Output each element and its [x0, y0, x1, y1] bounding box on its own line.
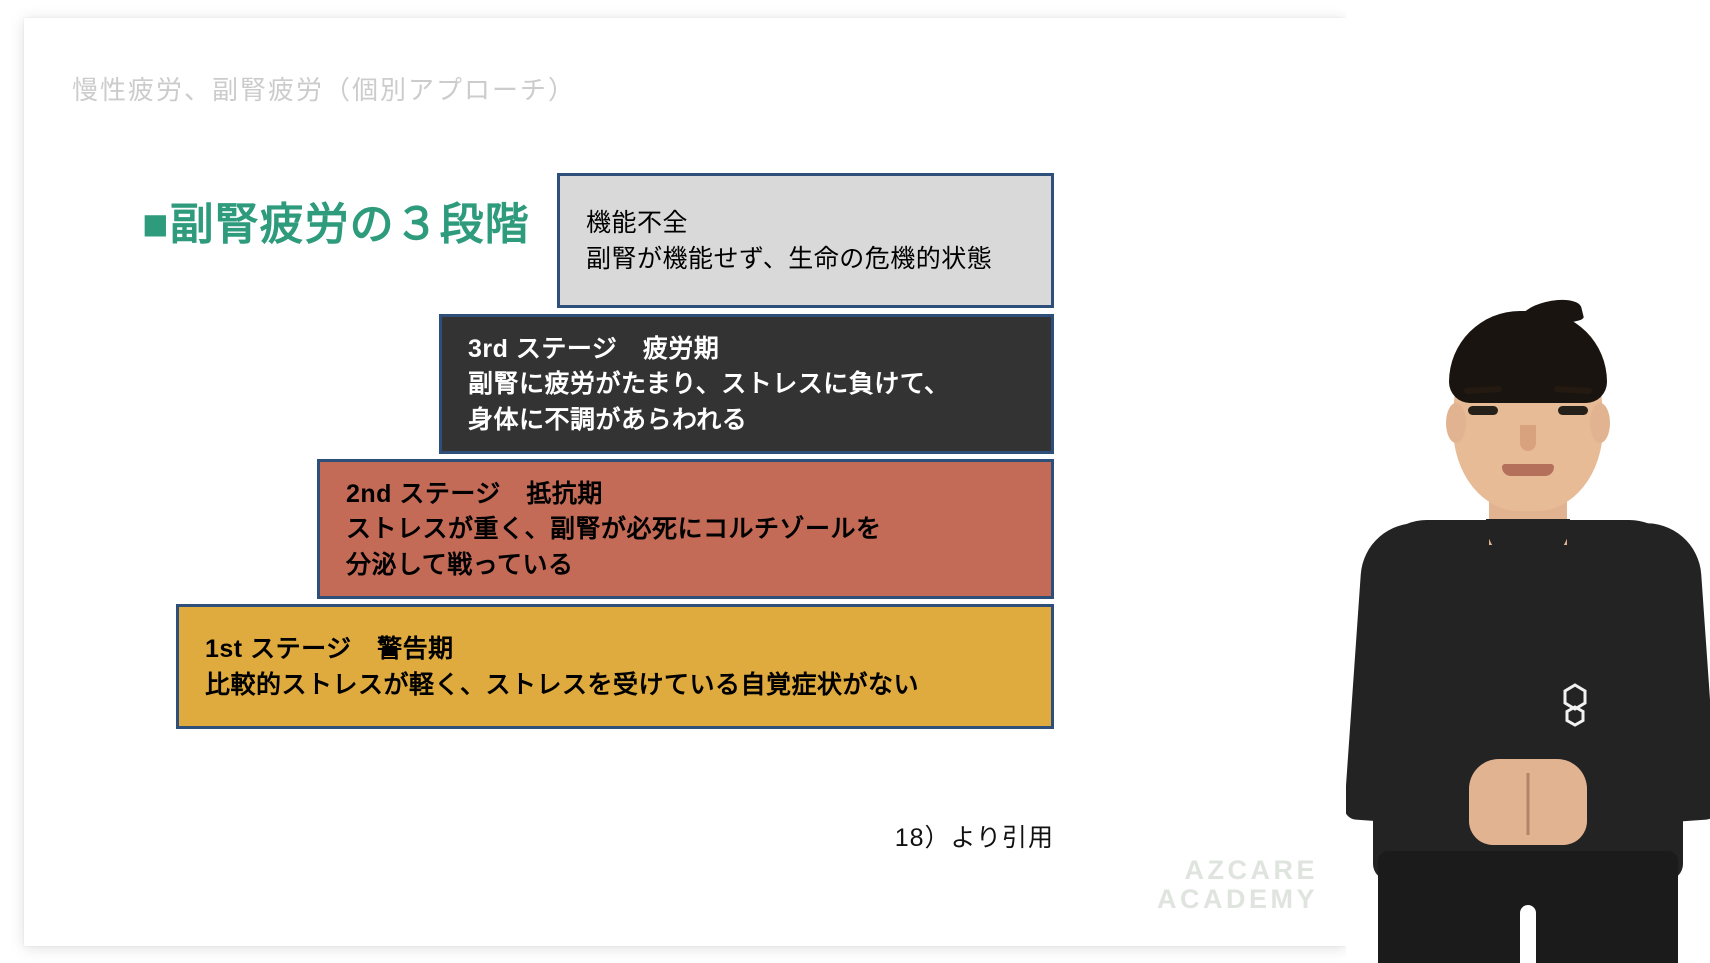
- stage-failure-line-2: 副腎が機能せず、生命の危機的状態: [586, 242, 1025, 278]
- stage-3-line-3: 身体に不調があらわれる: [468, 403, 1025, 439]
- adrenal-fatigue-stage-pyramid: 機能不全 副腎が機能せず、生命の危機的状態 3rd ステージ 疲労期 副腎に疲労…: [24, 18, 1346, 946]
- presenter-mouth: [1502, 464, 1554, 476]
- stage-2-line-2: ストレスが重く、副腎が必死にコルチゾールを: [346, 512, 1025, 548]
- presenter-shirt-hexagon-logo: [1558, 683, 1592, 731]
- presenter-shorts-gap: [1520, 905, 1536, 963]
- page-title: ■副腎疲労の３段階: [142, 188, 530, 252]
- presenter-video-overlay: [1346, 0, 1710, 963]
- stage-1-line-2: 比較的ストレスが軽く、ストレスを受けている自覚症状がない: [205, 668, 1025, 704]
- presenter-nose: [1520, 425, 1536, 451]
- citation-note: 18）より引用: [24, 818, 1054, 854]
- stage-3-line-1: 3rd ステージ 疲労期: [468, 332, 1025, 368]
- presenter-ear-left: [1446, 403, 1466, 443]
- stage-box-3rd: 3rd ステージ 疲労期 副腎に疲労がたまり、ストレスに負けて、 身体に不調があ…: [439, 314, 1054, 454]
- watermark-line-2: ACADEMY: [1157, 885, 1318, 914]
- presenter-ear-right: [1590, 403, 1610, 443]
- slide-viewport: 慢性疲労、副腎疲労（個別アプローチ） ■副腎疲労の３段階 機能不全 副腎が機能せ…: [0, 0, 1710, 963]
- presenter-eye-right: [1558, 406, 1588, 415]
- slide-card: 慢性疲労、副腎疲労（個別アプローチ） ■副腎疲労の３段階 機能不全 副腎が機能せ…: [24, 18, 1346, 946]
- presenter-hand-divider: [1527, 773, 1530, 835]
- stage-box-failure: 機能不全 副腎が機能せず、生命の危機的状態: [557, 173, 1054, 308]
- stage-box-2nd: 2nd ステージ 抵抗期 ストレスが重く、副腎が必死にコルチゾールを 分泌して戦…: [317, 459, 1054, 599]
- stage-3-line-2: 副腎に疲労がたまり、ストレスに負けて、: [468, 367, 1025, 403]
- stage-box-1st: 1st ステージ 警告期 比較的ストレスが軽く、ストレスを受けている自覚症状がな…: [176, 604, 1054, 729]
- presenter-eye-left: [1468, 406, 1498, 415]
- watermark-line-1: AZCARE: [1157, 856, 1318, 885]
- stage-failure-line-1: 機能不全: [586, 206, 1025, 242]
- stage-2-line-1: 2nd ステージ 抵抗期: [346, 477, 1025, 513]
- stage-1-line-1: 1st ステージ 警告期: [205, 632, 1025, 668]
- azcare-academy-watermark: AZCARE ACADEMY: [1157, 856, 1318, 914]
- stage-2-line-3: 分泌して戦っている: [346, 548, 1025, 584]
